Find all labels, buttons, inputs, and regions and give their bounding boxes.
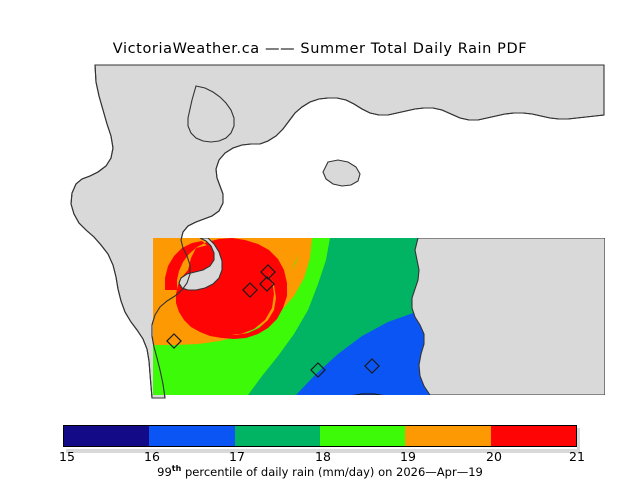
colorbar-tick-19: 19 [400,449,416,464]
colorbar-segment-18-19[interactable] [320,426,405,446]
colorbar-segment-17-18[interactable] [235,426,320,446]
map-svg [0,62,640,407]
caption-part-2: percentile of daily rain (mm/day) on 202… [181,465,483,479]
weather-map-page: VictoriaWeather.ca —— Summer Total Daily… [0,0,640,480]
caption-part-1: 99 [157,465,172,479]
colorbar-area: 15 16 17 18 19 20 21 99th percentile of … [0,420,640,480]
page-title: VictoriaWeather.ca —— Summer Total Daily… [0,41,640,57]
colorbar[interactable] [63,425,577,447]
colorbar-segment-20-21[interactable] [491,426,576,446]
map-canvas [0,62,640,407]
colorbar-tick-20: 20 [486,449,502,464]
colorbar-segment-15-16[interactable] [64,426,149,446]
east-coast-land-overlay [412,238,605,395]
colorbar-segment-19-20[interactable] [405,426,490,446]
caption-ordinal-suffix: th [172,464,182,473]
colorbar-segment-16-17[interactable] [149,426,234,446]
colorbar-caption: 99th percentile of daily rain (mm/day) o… [0,464,640,479]
colorbar-tick-18: 18 [315,449,331,464]
colorbar-tick-15: 15 [59,449,75,464]
colorbar-tick-17: 17 [229,449,245,464]
colorbar-tick-16: 16 [144,449,160,464]
rainfall-contour-field [153,238,605,407]
colorbar-tick-21: 21 [569,449,585,464]
